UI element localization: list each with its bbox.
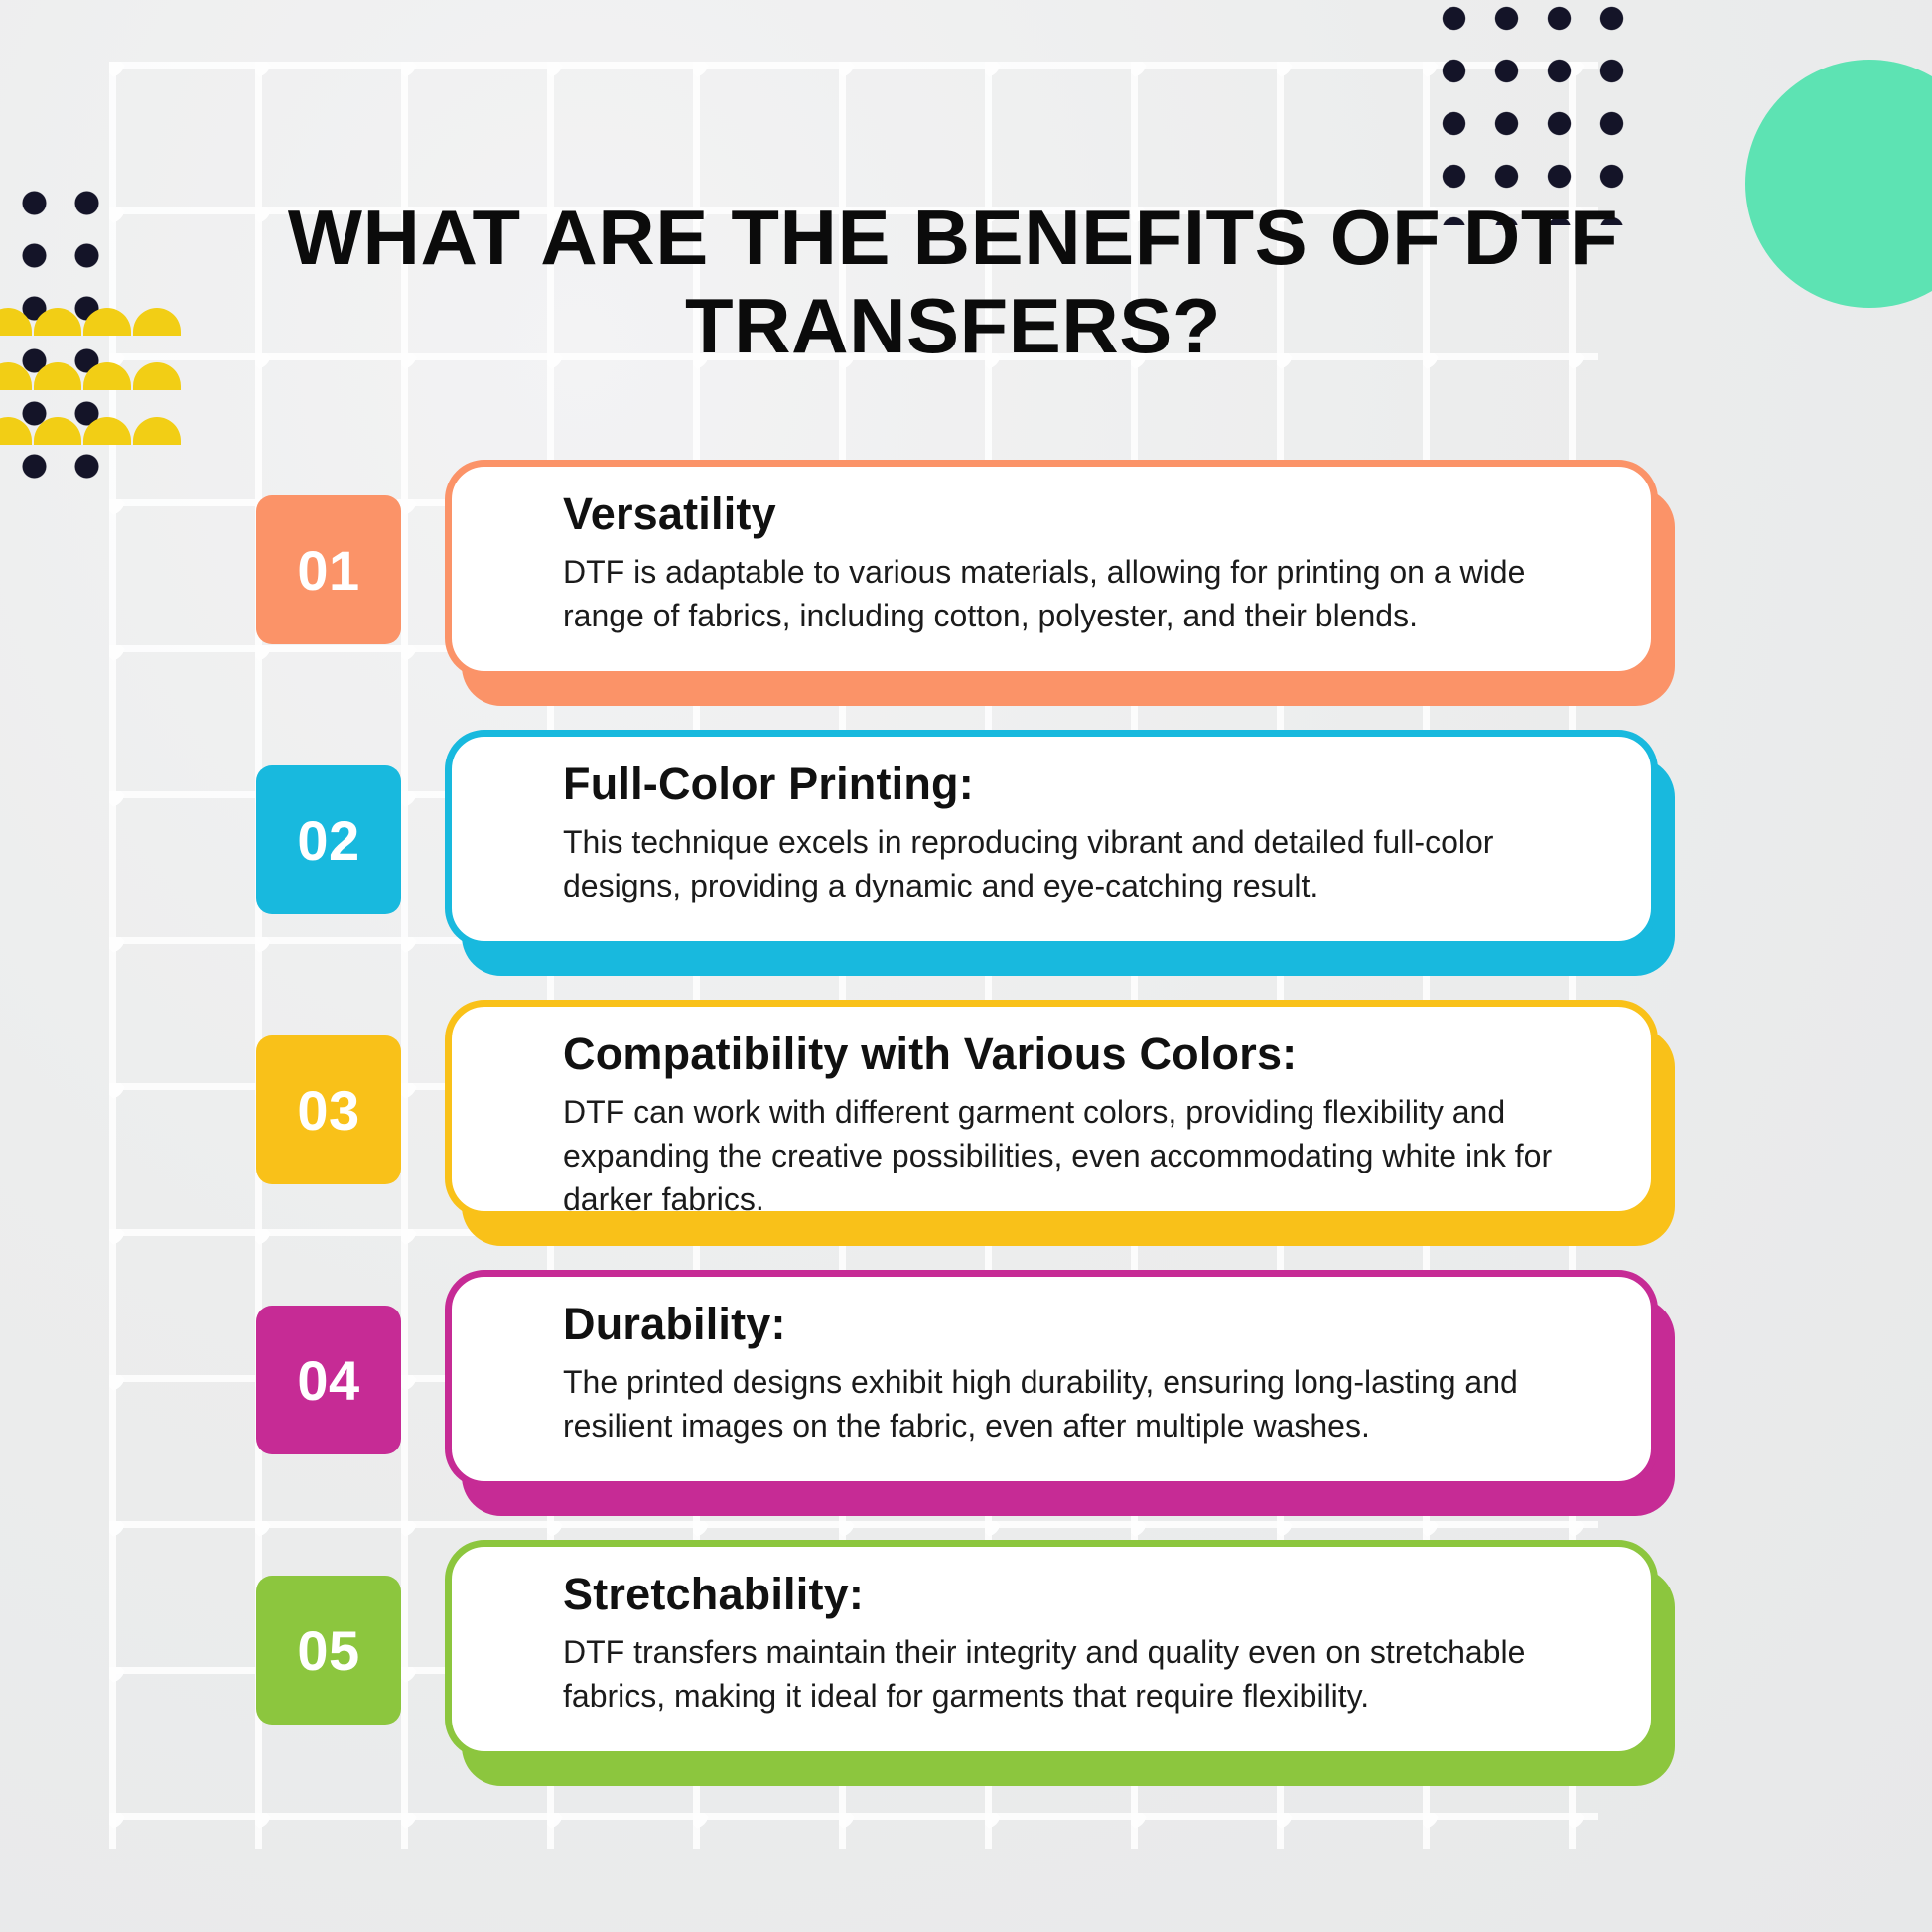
benefit-card[interactable]: VersatilityDTF is adaptable to various m… xyxy=(445,460,1658,678)
benefit-row: Full-Color Printing:This technique excel… xyxy=(0,722,1932,982)
benefit-heading: Stretchability: xyxy=(563,1569,1605,1620)
benefit-number: 03 xyxy=(297,1078,359,1143)
dot-pattern-right-icon xyxy=(1428,0,1641,225)
benefit-body: DTF is adaptable to various materials, a… xyxy=(563,550,1605,637)
benefit-heading: Durability: xyxy=(563,1299,1605,1350)
benefit-row: Durability:The printed designs exhibit h… xyxy=(0,1262,1932,1522)
benefit-number-badge: 04 xyxy=(256,1306,401,1454)
benefit-body: This technique excels in reproducing vib… xyxy=(563,820,1605,907)
benefit-number-badge: 05 xyxy=(256,1576,401,1725)
benefit-number: 02 xyxy=(297,808,359,873)
benefit-number-badge: 03 xyxy=(256,1035,401,1184)
benefit-heading: Versatility xyxy=(563,488,1605,540)
benefit-number-badge: 01 xyxy=(256,495,401,644)
benefit-card[interactable]: Durability:The printed designs exhibit h… xyxy=(445,1270,1658,1488)
benefit-row: Compatibility with Various Colors:DTF ca… xyxy=(0,992,1932,1252)
infographic-poster: WHAT ARE THE BENEFITS OF DTF TRANSFERS? … xyxy=(0,0,1932,1932)
mint-circle-icon xyxy=(1745,60,1932,308)
semicircle-cluster-icon xyxy=(0,308,183,427)
benefit-heading: Full-Color Printing: xyxy=(563,759,1605,810)
benefit-number: 04 xyxy=(297,1348,359,1413)
benefit-card[interactable]: Compatibility with Various Colors:DTF ca… xyxy=(445,1000,1658,1218)
benefits-list: VersatilityDTF is adaptable to various m… xyxy=(0,452,1932,1802)
page-title: WHAT ARE THE BENEFITS OF DTF TRANSFERS? xyxy=(234,194,1672,370)
benefit-number: 05 xyxy=(297,1618,359,1683)
benefit-heading: Compatibility with Various Colors: xyxy=(563,1029,1605,1080)
benefit-body: The printed designs exhibit high durabil… xyxy=(563,1360,1605,1448)
benefit-row: Stretchability:DTF transfers maintain th… xyxy=(0,1532,1932,1792)
benefit-card[interactable]: Stretchability:DTF transfers maintain th… xyxy=(445,1540,1658,1758)
benefit-number: 01 xyxy=(297,538,359,603)
benefit-body: DTF transfers maintain their integrity a… xyxy=(563,1630,1605,1718)
benefit-card[interactable]: Full-Color Printing:This technique excel… xyxy=(445,730,1658,948)
benefit-row: VersatilityDTF is adaptable to various m… xyxy=(0,452,1932,712)
benefit-body: DTF can work with different garment colo… xyxy=(563,1090,1605,1221)
benefit-number-badge: 02 xyxy=(256,765,401,914)
